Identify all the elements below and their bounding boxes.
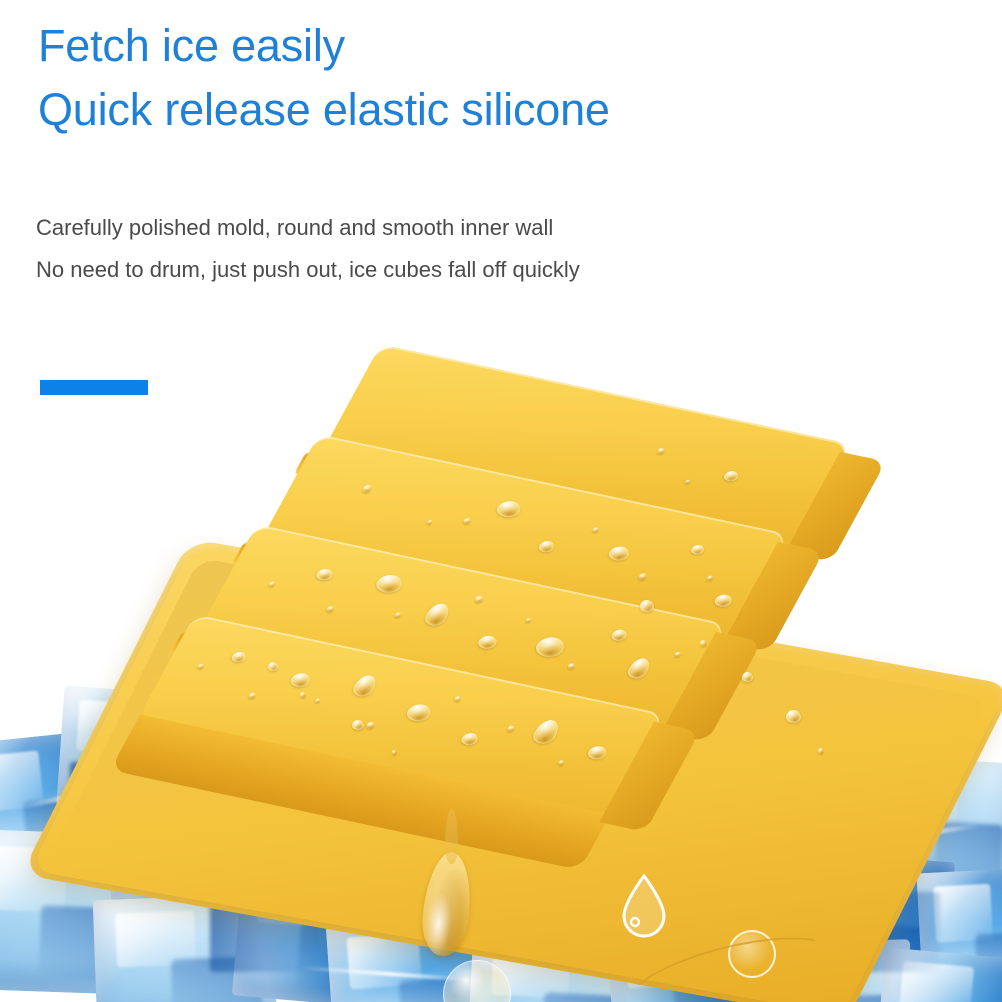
subcopy-line-1: Carefully polished mold, round and smoot… <box>36 207 580 249</box>
headline-line-2: Quick release elastic silicone <box>38 78 610 142</box>
headline-block: Fetch ice easily Quick release elastic s… <box>38 14 610 142</box>
headline-line-1: Fetch ice easily <box>38 14 610 78</box>
blue-accent-bar <box>40 380 148 395</box>
product-photo <box>0 300 1002 1002</box>
water-drop-icon <box>618 872 670 940</box>
subcopy-block: Carefully polished mold, round and smoot… <box>36 207 580 291</box>
subcopy-line-2: No need to drum, just push out, ice cube… <box>36 249 580 291</box>
product-banner: Fetch ice easily Quick release elastic s… <box>0 0 1002 1002</box>
